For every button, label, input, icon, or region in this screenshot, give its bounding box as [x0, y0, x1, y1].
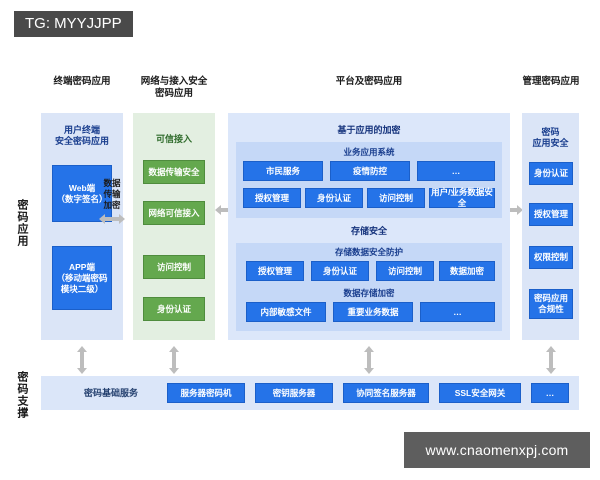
bottom-label-crypto-basic-service: 密码基础服务: [61, 383, 161, 403]
chip-app-terminal[interactable]: APP端 （移动端密码 模块二级）: [52, 246, 112, 310]
chip-epidemic-control[interactable]: 疫情防控: [330, 161, 410, 181]
chip-storage-data-encryption[interactable]: 数据加密: [439, 261, 495, 281]
chip-storage-identity-auth[interactable]: 身份认证: [311, 261, 369, 281]
chip-storage-access-control[interactable]: 访问控制: [376, 261, 434, 281]
chip-network-identity-auth[interactable]: 身份认证: [143, 297, 205, 321]
column-header-network: 网络与接入安全 密码应用: [126, 76, 222, 100]
chip-business-more[interactable]: …: [417, 161, 495, 181]
arrow-management-to-support: [544, 346, 558, 374]
tg-tag: TG: MYYJJPP: [14, 11, 133, 37]
panel-network-title: 可信接入: [133, 134, 215, 145]
chip-app-authorization-management[interactable]: 授权管理: [243, 188, 301, 208]
chip-storage-more[interactable]: …: [420, 302, 495, 322]
watermark: www.cnaomenxpj.com: [404, 432, 590, 468]
platform-business-subpanel: 业务应用系统 市民服务 疫情防控 … 授权管理 身份认证 访问控制 用户/业务数…: [236, 142, 502, 218]
platform-app-section-title: 基于应用的加密: [228, 125, 510, 136]
arrow-network-to-support: [167, 346, 181, 374]
chip-mgmt-permission-control[interactable]: 权限控制: [529, 246, 573, 269]
platform-storage-encryption-title: 数据存储加密: [236, 288, 502, 298]
column-header-management: 管理密码应用: [505, 76, 597, 88]
chip-bottom-more[interactable]: …: [531, 383, 569, 403]
column-header-terminal: 终端密码应用: [30, 76, 134, 88]
chip-key-server[interactable]: 密钥服务器: [255, 383, 333, 403]
chip-internal-sensitive-files[interactable]: 内部敏感文件: [246, 302, 326, 322]
chip-ssl-security-gateway[interactable]: SSL安全网关: [439, 383, 521, 403]
chip-app-access-control[interactable]: 访问控制: [367, 188, 425, 208]
side-label-application: 密码应用: [14, 188, 30, 258]
chip-mgmt-identity-auth[interactable]: 身份认证: [529, 162, 573, 185]
arrow-terminal-network: [99, 212, 125, 226]
panel-terminal-title: 用户终端 安全密码应用: [41, 125, 123, 147]
gap-label-data-transfer-encryption: 数据 传输 加密: [99, 178, 125, 211]
chip-server-crypto-machine[interactable]: 服务器密码机: [167, 383, 245, 403]
arrow-terminal-to-support: [75, 346, 89, 374]
chip-mgmt-authorization-management[interactable]: 授权管理: [529, 203, 573, 226]
diagram-canvas: TG: MYYJJPP 终端密码应用 网络与接入安全 密码应用 平台及密码应用 …: [0, 0, 600, 480]
chip-network-trusted-access[interactable]: 网络可信接入: [143, 201, 205, 225]
panel-management: 密码 应用安全 身份认证 授权管理 权限控制 密码应用 合规性: [522, 113, 579, 340]
panel-terminal: 用户终端 安全密码应用 Web端 （数字签名） APP端 （移动端密码 模块二级…: [41, 113, 123, 340]
column-header-platform: 平台及密码应用: [228, 76, 510, 88]
panel-platform: 基于应用的加密 业务应用系统 市民服务 疫情防控 … 授权管理 身份认证 访问控…: [228, 113, 510, 340]
side-label-support: 密码支撑: [14, 360, 30, 430]
chip-network-access-control[interactable]: 访问控制: [143, 255, 205, 279]
platform-storage-protection-title: 存储数据安全防护: [236, 247, 502, 257]
platform-business-subtitle: 业务应用系统: [236, 147, 502, 157]
chip-important-business-data[interactable]: 重要业务数据: [333, 302, 413, 322]
chip-network-data-transfer-security[interactable]: 数据传输安全: [143, 160, 205, 184]
panel-network: 可信接入 数据传输安全 网络可信接入 访问控制 身份认证: [133, 113, 215, 340]
arrow-platform-to-support: [362, 346, 376, 374]
chip-app-identity-auth[interactable]: 身份认证: [305, 188, 363, 208]
chip-app-user-business-data-security[interactable]: 用户/业务数据安全: [429, 188, 495, 208]
panel-management-title: 密码 应用安全: [522, 127, 579, 149]
chip-citizen-service[interactable]: 市民服务: [243, 161, 323, 181]
platform-storage-subpanel: 存储数据安全防护 授权管理 身份认证 访问控制 数据加密 数据存储加密 内部敏感…: [236, 243, 502, 331]
chip-collaborative-signature-server[interactable]: 协同签名服务器: [343, 383, 429, 403]
bottom-support-bar: 密码基础服务 服务器密码机 密钥服务器 协同签名服务器 SSL安全网关 …: [41, 376, 579, 410]
chip-mgmt-compliance[interactable]: 密码应用 合规性: [529, 289, 573, 319]
chip-storage-authorization-management[interactable]: 授权管理: [246, 261, 304, 281]
platform-storage-section-title: 存储安全: [228, 226, 510, 237]
arrow-network-platform: [215, 203, 228, 217]
